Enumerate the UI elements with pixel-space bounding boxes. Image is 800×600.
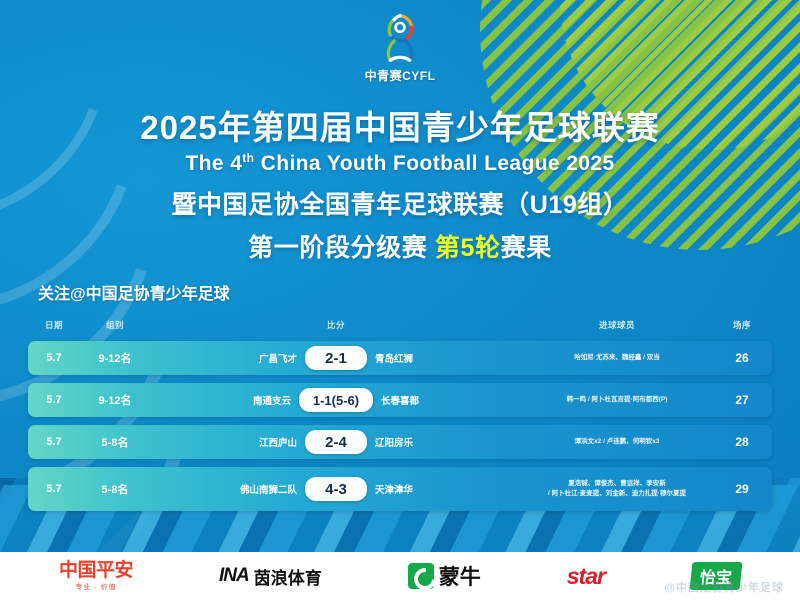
score-badge: 2-1: [305, 346, 367, 370]
row-scorers: 夏浩铖、谭俊杰、曹运祥、李安新 / 阿卜杜江·麦麦提、刘金新、迪力扎提·穆尔夏提: [522, 479, 712, 499]
table-header-row: 日期 组别 比分 进球球员 场序: [28, 316, 772, 334]
sponsor-ina-latin: INA: [219, 565, 249, 587]
score-badge: 2-4: [305, 430, 367, 454]
round-highlight: 第5轮: [435, 234, 501, 262]
away-team: 天津津华: [375, 482, 449, 496]
row-matchup: 广昌飞才 2-1 青岛红狮: [150, 346, 522, 370]
sponsor-star: star: [567, 563, 605, 590]
row-group: 5-8名: [80, 481, 150, 497]
sponsor-mengniu-name: 蒙牛: [439, 561, 481, 591]
round-suffix: 赛果: [501, 234, 552, 262]
english-title: The 4th China Youth Football League 2025: [0, 151, 800, 176]
main-title: 2025年第四届中国青少年足球联赛: [0, 110, 800, 147]
row-date: 5.7: [28, 394, 80, 406]
home-team: 江西庐山: [223, 435, 297, 449]
row-order: 29: [712, 482, 772, 496]
header-scorer: 进球球员: [522, 319, 712, 331]
league-logo: 中青赛CYFL: [0, 8, 800, 84]
row-date: 5.7: [28, 483, 80, 495]
row-group: 5-8名: [80, 434, 150, 450]
table-row[interactable]: 5.7 9-12名 南通支云 1-1(5-6) 长春喜都 韩一鸣 / 阿卜杜瓦吉…: [28, 383, 772, 417]
round-title: 第一阶段分级赛 第5轮赛果: [0, 228, 800, 264]
row-matchup: 佛山南狮二队 4-3 天津津华: [150, 477, 522, 501]
header-score: 比分: [150, 319, 522, 331]
away-team: 长春喜都: [381, 393, 455, 407]
row-scorers-line2: / 阿卜杜江·麦麦提、刘金新、迪力扎提·穆尔夏提: [548, 490, 686, 497]
title-block: 2025年第四届中国青少年足球联赛 The 4th China Youth Fo…: [0, 110, 800, 264]
header-group: 组别: [80, 319, 150, 331]
sponsor-mengniu: 蒙牛: [408, 561, 481, 591]
round-prefix: 第一阶段分级赛: [248, 234, 435, 262]
home-team: 佛山南狮二队: [223, 482, 297, 496]
sponsor-yibao: 怡宝: [691, 562, 741, 590]
sponsor-pingan: 中国平安 专业 · 价值: [59, 561, 133, 592]
row-group: 9-12名: [80, 350, 150, 366]
sponsor-yibao-name: 怡宝: [689, 562, 742, 590]
away-team: 辽阳房乐: [375, 435, 449, 449]
away-team: 青岛红狮: [375, 351, 449, 365]
home-team: 广昌飞才: [223, 351, 297, 365]
sponsor-pingan-name: 中国平安: [59, 561, 133, 580]
sponsor-pingan-tagline: 专业 · 价值: [59, 582, 133, 592]
cyfl-emblem-icon: [371, 8, 429, 66]
table-row[interactable]: 5.7 5-8名 江西庐山 2-4 辽阳房乐 谭浜文x2 / 卢连鹏、何明钦x3…: [28, 425, 772, 459]
row-order: 26: [712, 351, 772, 365]
score-badge: 4-3: [305, 477, 367, 501]
row-date: 5.7: [28, 352, 80, 364]
row-order: 28: [712, 435, 772, 449]
home-team: 南通支云: [217, 393, 291, 407]
english-title-rest: China Youth Football League 2025: [254, 152, 614, 175]
english-title-prefix: The 4: [185, 152, 242, 175]
sponsor-bar: 中国平安 专业 · 价值 INA 茵浪体育 蒙牛 star 怡宝 @中国足协青少…: [0, 552, 800, 600]
row-date: 5.7: [28, 436, 80, 448]
row-matchup: 江西庐山 2-4 辽阳房乐: [150, 430, 522, 454]
header-date: 日期: [28, 319, 80, 331]
sponsor-ina: INA 茵浪体育: [219, 564, 322, 589]
row-order: 27: [712, 393, 772, 407]
header-order: 场序: [712, 319, 772, 331]
row-scorers: 韩一鸣 / 阿卜杜瓦吉提·阿布都西(P): [522, 395, 712, 405]
mengniu-mark-icon: [408, 563, 434, 589]
row-scorers-line1: 夏浩铖、谭俊杰、曹运祥、李安新: [568, 480, 666, 487]
results-table: 日期 组别 比分 进球球员 场序 5.7 9-12名 广昌飞才 2-1 青岛红狮…: [28, 316, 772, 519]
row-scorers: 谭浜文x2 / 卢连鹏、何明钦x3: [522, 437, 712, 447]
subtitle: 暨中国足协全国青年足球联赛（U19组）: [0, 185, 800, 221]
table-row[interactable]: 5.7 9-12名 广昌飞才 2-1 青岛红狮 哈如尼·尤苏来、魏经鑫 / 双当…: [28, 341, 772, 375]
row-matchup: 南通支云 1-1(5-6) 长春喜都: [150, 388, 522, 412]
sponsor-star-name: star: [567, 563, 605, 590]
sponsor-ina-name: 茵浪体育: [254, 564, 322, 589]
logo-text: 中青赛CYFL: [365, 67, 436, 84]
score-badge: 1-1(5-6): [299, 388, 373, 412]
row-scorers: 哈如尼·尤苏来、魏经鑫 / 双当: [522, 353, 712, 363]
row-group: 9-12名: [80, 392, 150, 408]
follow-handle: 关注@中国足协青少年足球: [38, 280, 230, 304]
table-row[interactable]: 5.7 5-8名 佛山南狮二队 4-3 天津津华 夏浩铖、谭俊杰、曹运祥、李安新…: [28, 467, 772, 511]
english-title-ordinal: th: [242, 151, 254, 165]
